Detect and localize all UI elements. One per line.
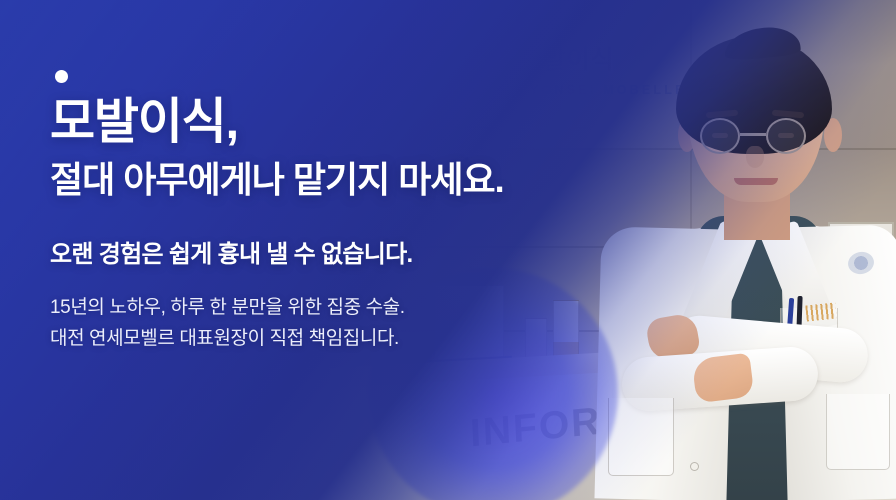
bullet-dot-icon (55, 70, 68, 83)
headline-secondary: 절대 아무에게나 맡기지 마세요. (50, 158, 650, 202)
body-copy-line-1: 15년의 노하우, 하루 한 분만을 위한 집중 수술. (50, 293, 650, 324)
hero-banner: 연세모벨르 모발이식 YONSEI MOBELLE INFORMATION (0, 0, 896, 500)
subheadline: 오랜 경험은 쉽게 흉내 낼 수 없습니다. (50, 234, 650, 269)
hero-text-block: 모발이식, 절대 아무에게나 맡기지 마세요. 오랜 경험은 쉽게 흉내 낼 수… (50, 70, 650, 354)
body-copy-line-2: 대전 연세모벨르 대표원장이 직접 책임집니다. (50, 324, 650, 355)
body-copy: 15년의 노하우, 하루 한 분만을 위한 집중 수술. 대전 연세모벨르 대표… (50, 293, 650, 355)
headline-primary: 모발이식, (50, 97, 650, 149)
